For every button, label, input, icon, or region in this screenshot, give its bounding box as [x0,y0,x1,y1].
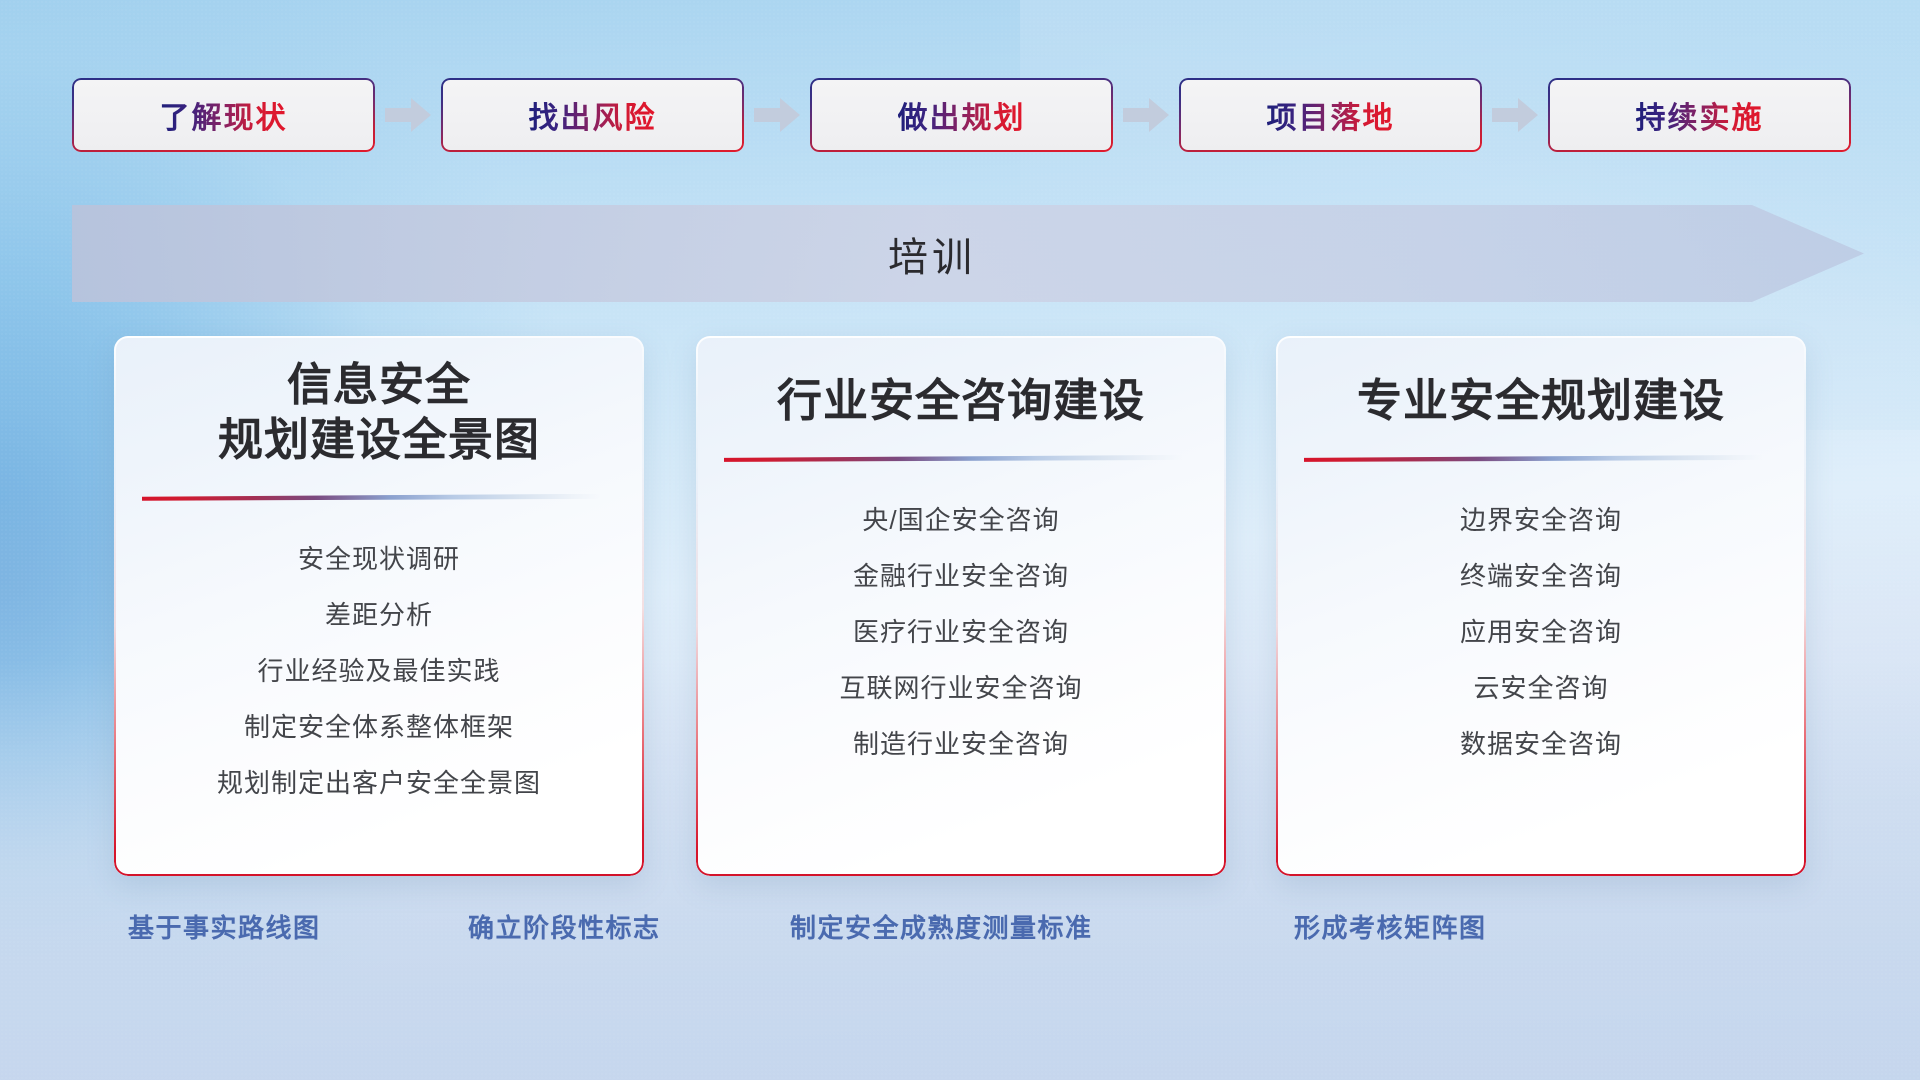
caption-matrix: 形成考核矩阵图 [1294,908,1487,945]
list-item: 金融行业安全咨询 [853,551,1069,601]
right-arrow-icon [744,78,810,152]
caption-milestones: 确立阶段性标志 [468,908,661,945]
card-divider [1304,455,1762,465]
card-divider [724,455,1182,465]
captions-row: 基于事实路线图 确立阶段性标志 制定安全成熟度测量标准 形成考核矩阵图 [0,908,1920,964]
step-label: 项目落地 [1267,93,1395,137]
card-title: 行业安全咨询建设 [696,374,1226,429]
step-box-4[interactable]: 项目落地 [1179,78,1482,152]
training-label: 培训 [72,205,1792,302]
card-item-list: 央/国企安全咨询 金融行业安全咨询 医疗行业安全咨询 互联网行业安全咨询 制造行… [696,495,1226,769]
card-title-line: 信息安全 [114,358,644,413]
list-item: 制造行业安全咨询 [853,719,1069,769]
card-security-panorama[interactable]: 信息安全 规划建设全景图 安全现状调研 差距分析 行业经验及最佳实践 制定安全体… [114,336,644,876]
list-item: 数据安全咨询 [1460,719,1622,769]
right-arrow-icon [375,78,441,152]
list-item: 规划制定出客户安全全景图 [217,758,541,808]
card-title: 专业安全规划建设 [1276,374,1806,429]
step-box-3[interactable]: 做出规划 [810,78,1113,152]
step-box-5[interactable]: 持续实施 [1548,78,1851,152]
card-professional-planning[interactable]: 专业安全规划建设 边界安全咨询 终端安全咨询 应用安全咨询 云安全咨询 数据安全… [1276,336,1806,876]
list-item: 行业经验及最佳实践 [257,646,500,696]
list-item: 差距分析 [325,590,433,640]
step-label: 持续实施 [1636,93,1764,137]
step-label: 找出风险 [529,93,657,137]
card-title-line: 专业安全规划建设 [1276,374,1806,429]
step-label: 做出规划 [898,93,1026,137]
step-box-2[interactable]: 找出风险 [441,78,744,152]
right-arrow-icon [1113,78,1179,152]
caption-roadmap: 基于事实路线图 [128,908,321,945]
card-divider [142,494,600,504]
list-item: 互联网行业安全咨询 [839,663,1082,713]
process-steps: 了解现状 找出风险 做出规划 项目落地 持续实施 [72,78,1852,152]
card-title-line: 行业安全咨询建设 [696,374,1226,429]
list-item: 应用安全咨询 [1460,607,1622,657]
list-item: 云安全咨询 [1473,663,1608,713]
right-arrow-icon [1482,78,1548,152]
list-item: 医疗行业安全咨询 [853,607,1069,657]
list-item: 央/国企安全咨询 [862,495,1059,545]
list-item: 终端安全咨询 [1460,551,1622,601]
card-item-list: 安全现状调研 差距分析 行业经验及最佳实践 制定安全体系整体框架 规划制定出客户… [114,534,644,808]
step-label: 了解现状 [160,93,288,137]
card-title-line: 规划建设全景图 [114,413,644,468]
list-item: 边界安全咨询 [1460,495,1622,545]
list-item: 安全现状调研 [298,534,460,584]
list-item: 制定安全体系整体框架 [244,702,514,752]
cards-row: 信息安全 规划建设全景图 安全现状调研 差距分析 行业经验及最佳实践 制定安全体… [0,336,1920,876]
card-title: 信息安全 规划建设全景图 [114,358,644,468]
card-item-list: 边界安全咨询 终端安全咨询 应用安全咨询 云安全咨询 数据安全咨询 [1276,495,1806,769]
training-banner: 培训 [72,205,1864,302]
caption-maturity-metric: 制定安全成熟度测量标准 [790,908,1093,945]
card-industry-consulting[interactable]: 行业安全咨询建设 央/国企安全咨询 金融行业安全咨询 医疗行业安全咨询 互联网行… [696,336,1226,876]
step-box-1[interactable]: 了解现状 [72,78,375,152]
